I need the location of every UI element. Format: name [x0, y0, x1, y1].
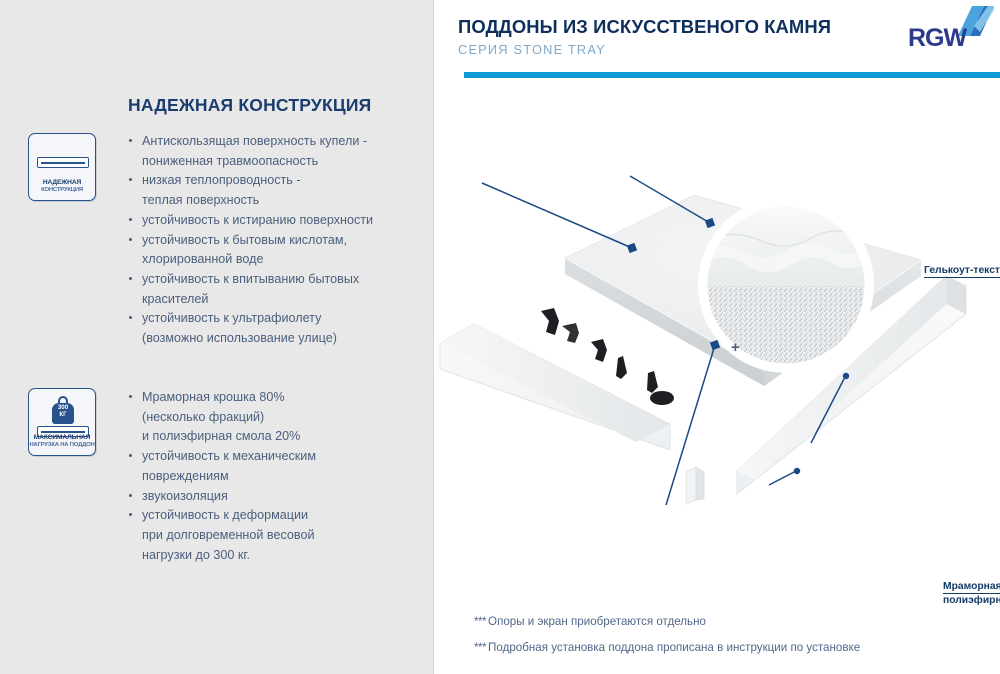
- callout-marble-resin: Мраморная крошка + полиэфирная смола: [943, 580, 1000, 607]
- weight-label: 300 КГ: [52, 405, 74, 418]
- callout-gelcoat: Гелькоут-текстура каменной породы: [924, 264, 1000, 278]
- bullet-dot-icon: [129, 513, 132, 516]
- front-screen-panel-left: [440, 324, 670, 450]
- list-item: устойчивость к механическим повреждениям: [128, 447, 428, 486]
- magnifier-plus-sign: +: [731, 339, 740, 356]
- bullet-dot-icon: [129, 218, 132, 221]
- product-diagram: + Гелькоут-текстура каменной породы Мрам…: [434, 90, 1000, 590]
- badge-caption: НАДЕЖНАЯ КОНСТРУКЦИЯ: [29, 179, 95, 195]
- badge-reliable-construction: НАДЕЖНАЯ КОНСТРУКЦИЯ: [28, 133, 96, 201]
- list-item: Антискользящая поверхность купели - пони…: [128, 132, 428, 171]
- list-item: устойчивость к впитыванию бытовых красит…: [128, 270, 428, 309]
- corner-piece: [686, 467, 704, 504]
- bullet-dot-icon: [129, 395, 132, 398]
- footnote-2: ***Подробная установка поддона прописана…: [474, 641, 860, 654]
- list-item: Мраморная крошка 80% (несколько фракций)…: [128, 388, 428, 447]
- list-item: звукоизоляция: [128, 487, 428, 507]
- bullet-dot-icon: [129, 178, 132, 181]
- bullet-dot-icon: [129, 238, 132, 241]
- bullet-dot-icon: [129, 454, 132, 457]
- list-item: устойчивость к истиранию поверхности: [128, 211, 428, 231]
- footnote-1: ***Опоры и экран приобретаются отдельно: [474, 615, 706, 628]
- badge-max-load: 300 КГ МАКСИМАЛЬНАЯ НАГРУЗКА НА ПОДДОН: [28, 388, 96, 456]
- bullet-dot-icon: [129, 277, 132, 280]
- header-title: ПОДДОНЫ ИЗ ИСКУССТВЕНОГО КАМНЯ: [458, 16, 831, 38]
- shower-tray-icon: [37, 157, 89, 168]
- page-title: НАДЕЖНАЯ КОНСТРУКЦИЯ: [128, 95, 371, 116]
- list-item: устойчивость к бытовым кислотам, хлориро…: [128, 231, 428, 270]
- list-item: устойчивость к ультрафиолету (возможно и…: [128, 309, 428, 348]
- list-item: устойчивость к деформации при долговреме…: [128, 506, 428, 565]
- header-subtitle: СЕРИЯ STONE TRAY: [458, 42, 606, 57]
- bullet-dot-icon: [129, 494, 132, 497]
- feature-list-surface: Антискользящая поверхность купели - пони…: [128, 132, 428, 349]
- bullet-dot-icon: [129, 316, 132, 319]
- max-load-weight-icon: 300 КГ: [52, 396, 74, 424]
- left-panel: НАДЕЖНАЯ КОНСТРУКЦИЯ НАДЕЖНАЯ КОНСТРУКЦИ…: [0, 0, 433, 674]
- rgw-logo: RGW: [908, 6, 994, 54]
- bullet-dot-icon: [129, 139, 132, 142]
- feature-list-material: Мраморная крошка 80% (несколько фракций)…: [128, 388, 428, 565]
- tray-illustration: +: [434, 90, 1000, 590]
- header-accent-rule: [464, 72, 1000, 78]
- rgw-logo-text: RGW: [908, 24, 966, 53]
- list-item: низкая теплопроводность - теплая поверхн…: [128, 171, 428, 210]
- badge-caption: МАКСИМАЛЬНАЯ НАГРУЗКА НА ПОДДОН: [29, 434, 95, 450]
